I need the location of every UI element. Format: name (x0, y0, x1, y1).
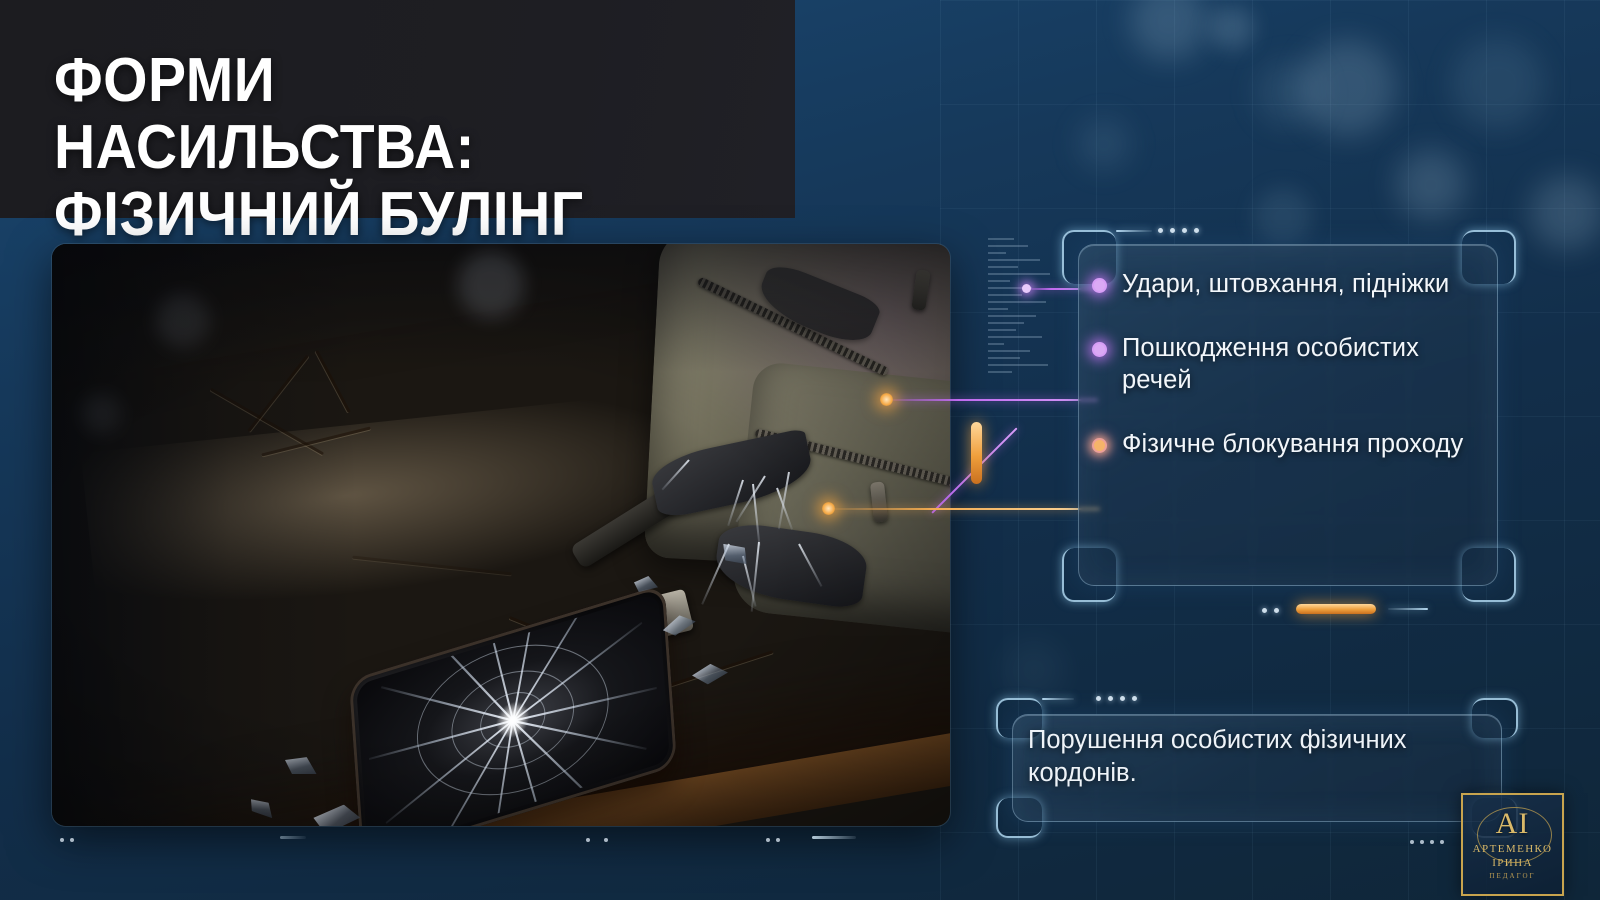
summary-text: Порушення особистих фізичних кордонів. (1028, 724, 1488, 790)
connector-3-origin-dot (822, 502, 835, 515)
logo-ornament-icon (1477, 807, 1552, 863)
orange-accent-bar-horizontal (1296, 604, 1376, 614)
bullet-list: Удари, штовхання, підніжки Пошкодження о… (1122, 268, 1482, 461)
bullets-panel-bracket-bottom-left (1062, 548, 1116, 602)
summary-panel-top-line (1042, 698, 1074, 700)
title-panel: ФОРМИ НАСИЛЬСТВА: ФІЗИЧНИЙ БУЛІНГ (0, 0, 795, 218)
summary-panel-bracket-bottom-left (996, 798, 1042, 838)
logo-badge: AI АРТЕМЕНКО ІРИНА ПЕДАГОГ (1461, 793, 1564, 896)
bullet-text: Пошкодження особистих речей (1122, 332, 1482, 396)
title-line-1: ФОРМИ НАСИЛЬСТВА: (54, 46, 475, 182)
bullets-panel-bottom-line (1388, 608, 1428, 610)
connector-2-origin-dot (880, 393, 893, 406)
list-item: Удари, штовхання, підніжки (1122, 268, 1482, 300)
bullet-text: Удари, штовхання, підніжки (1122, 268, 1449, 300)
bullets-panel-bracket-top-left (1062, 230, 1116, 284)
connector-2-horizontal (884, 399, 1098, 401)
list-item: Фізичне блокування проходу (1122, 428, 1482, 460)
bullets-panel-bracket-bottom-right (1462, 548, 1516, 602)
summary-panel-top-dots (1096, 696, 1137, 701)
presentation-slide: ФОРМИ НАСИЛЬСТВА: ФІЗИЧНИЙ БУЛІНГ (0, 0, 1600, 900)
illustration-photo (52, 244, 950, 826)
bullets-panel-bottom-dots (1262, 608, 1279, 613)
page-title: ФОРМИ НАСИЛЬСТВА: ФІЗИЧНИЙ БУЛІНГ (54, 48, 698, 249)
connector-3-horizontal (828, 508, 1100, 510)
orange-accent-bar-vertical (971, 422, 982, 484)
logo-role: ПЕДАГОГ (1489, 872, 1535, 880)
bullet-dot-icon (1092, 278, 1107, 293)
list-item: Пошкодження особистих речей (1122, 332, 1482, 396)
bullet-text: Фізичне блокування проходу (1122, 428, 1463, 460)
connector-1-node (1022, 284, 1031, 293)
bullets-panel-top-dots (1158, 228, 1199, 233)
title-line-2: ФІЗИЧНИЙ БУЛІНГ (54, 182, 698, 249)
bullets-panel-top-line (1116, 230, 1152, 232)
